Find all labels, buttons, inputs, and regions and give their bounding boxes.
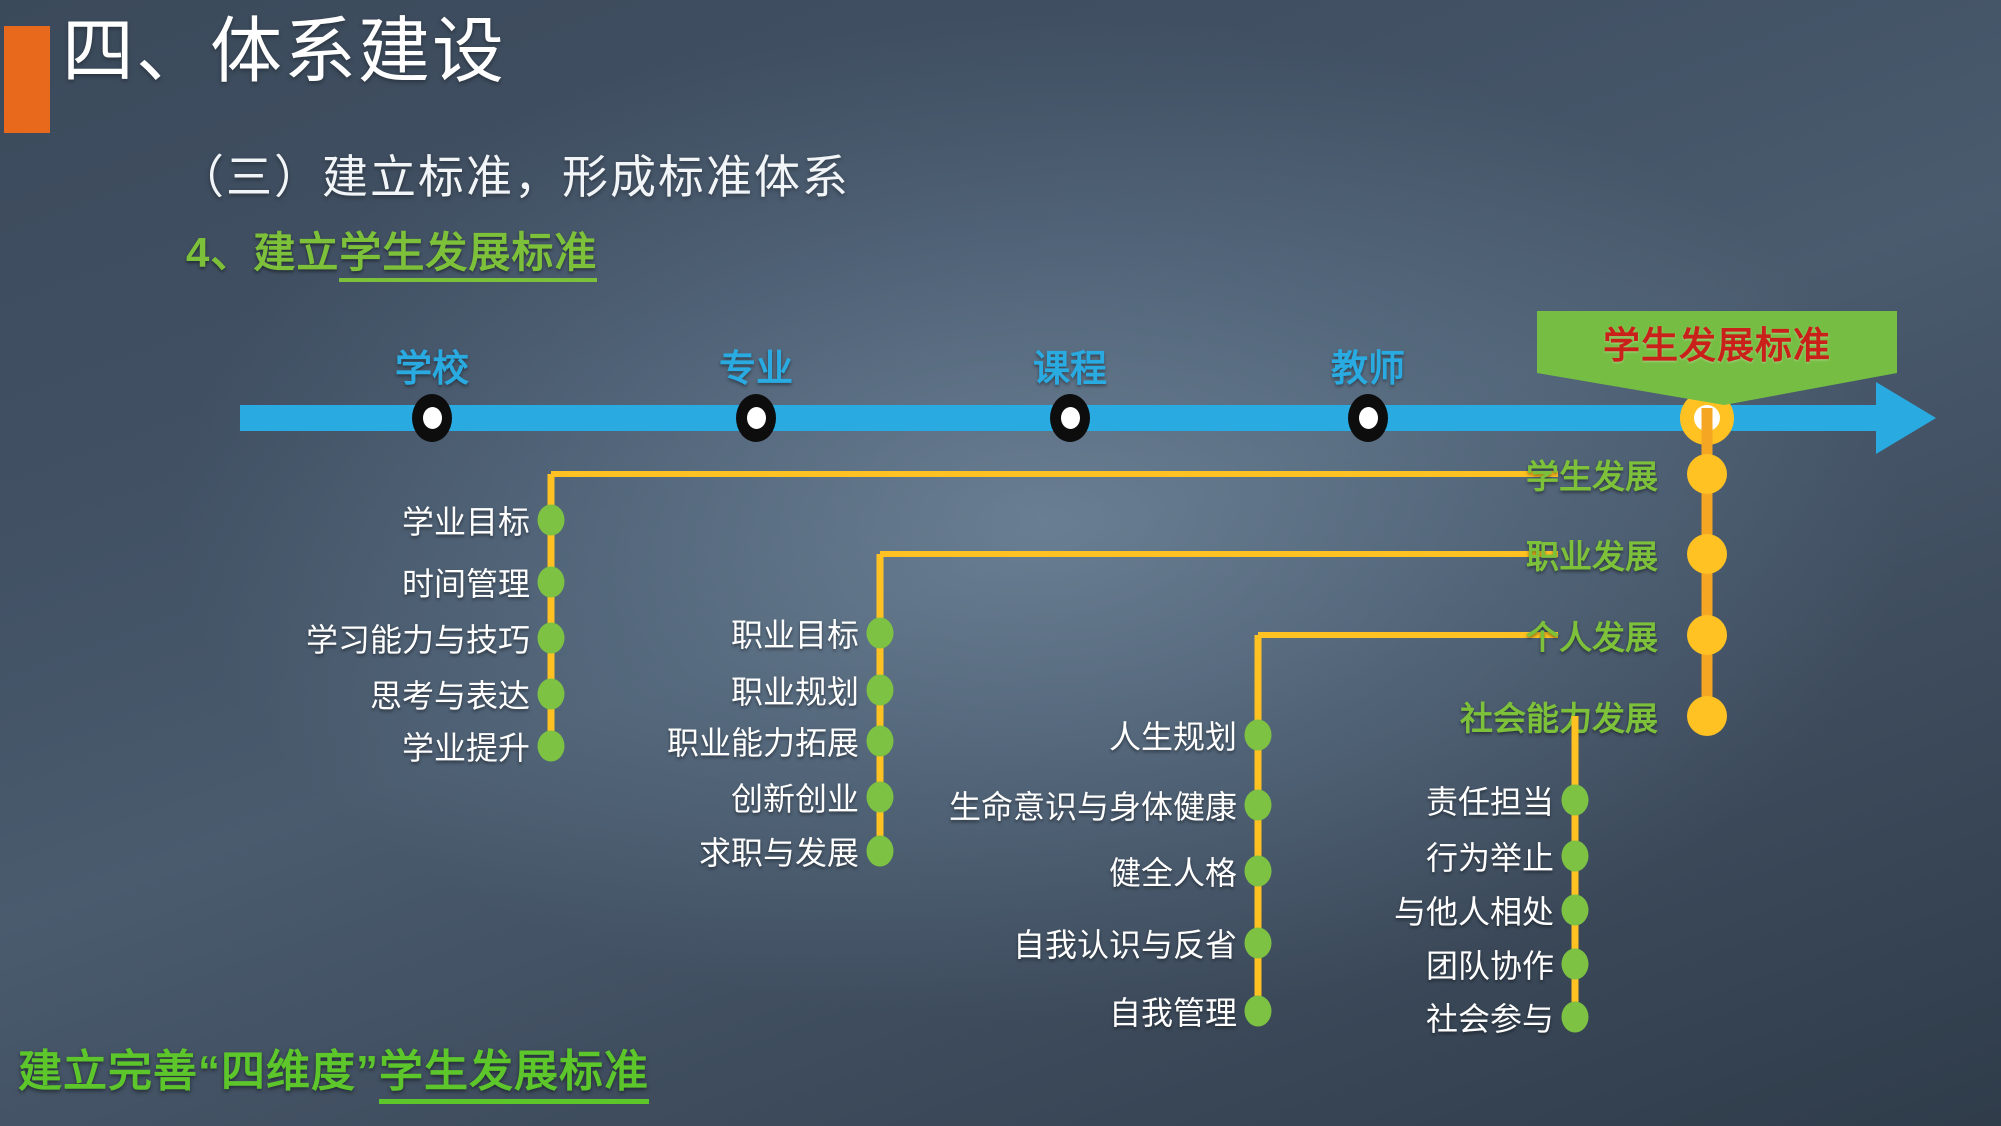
leaf-label-3-2: 生命意识与身体健康 bbox=[949, 782, 1237, 828]
timeline-node-center bbox=[1061, 407, 1080, 429]
leaf-label-4-1: 责任担当 bbox=[1426, 777, 1554, 823]
leaf-dot-2-3[interactable] bbox=[867, 726, 894, 757]
timeline-node-4[interactable] bbox=[1348, 394, 1388, 442]
slide-canvas: 四、体系建设 （三）建立标准，形成标准体系 4、建立学生发展标准 学校专业课程教… bbox=[0, 0, 2001, 1126]
leaf-dot-4-5[interactable] bbox=[1562, 1002, 1589, 1033]
leaf-dot-4-4[interactable] bbox=[1562, 949, 1589, 980]
leaf-label-1-5: 学业提升 bbox=[402, 723, 530, 769]
leaf-dot-1-5[interactable] bbox=[538, 731, 565, 762]
trunk-dot-4[interactable] bbox=[1687, 696, 1727, 736]
timeline-label-4: 教师 bbox=[1331, 338, 1405, 392]
leaf-label-2-4: 创新创业 bbox=[731, 774, 859, 820]
leaf-label-4-3: 与他人相处 bbox=[1394, 887, 1554, 933]
timeline-node-center bbox=[1359, 407, 1378, 429]
trunk-dot-1[interactable] bbox=[1687, 454, 1727, 494]
branch-connector-1 bbox=[551, 471, 1558, 477]
leaf-label-2-3: 职业能力拓展 bbox=[667, 718, 859, 764]
leaf-dot-1-2[interactable] bbox=[538, 567, 565, 598]
leaf-dot-2-5[interactable] bbox=[867, 836, 894, 867]
leaf-label-1-2: 时间管理 bbox=[402, 559, 530, 605]
leaf-dot-2-2[interactable] bbox=[867, 675, 894, 706]
leaf-label-1-1: 学业目标 bbox=[402, 497, 530, 543]
leaf-dot-1-4[interactable] bbox=[538, 679, 565, 710]
footer-caption-underlined: 学生发展标准 bbox=[379, 1047, 649, 1104]
banner-label: 学生发展标准 bbox=[1603, 315, 1831, 369]
section-heading-number: 4、建立 bbox=[186, 229, 339, 276]
leaf-label-3-1: 人生规划 bbox=[1109, 712, 1237, 758]
trunk-dot-2[interactable] bbox=[1687, 534, 1727, 574]
footer-caption: 建立完善“四维度”学生发展标准 bbox=[18, 1050, 649, 1094]
branch-label-2: 职业发展 bbox=[1526, 530, 1658, 578]
branch-label-4: 社会能力发展 bbox=[1460, 692, 1658, 740]
accent-bar bbox=[4, 26, 50, 133]
section-heading-underlined: 学生发展标准 bbox=[339, 229, 597, 282]
leaf-dot-4-3[interactable] bbox=[1562, 895, 1589, 926]
footer-caption-prefix: 建立完善“四维度” bbox=[18, 1047, 379, 1096]
timeline-node-3[interactable] bbox=[1050, 394, 1090, 442]
leaf-dot-4-1[interactable] bbox=[1562, 785, 1589, 816]
leaf-label-4-2: 行为举止 bbox=[1426, 833, 1554, 879]
trunk-dot-3[interactable] bbox=[1687, 615, 1727, 655]
leaf-label-3-4: 自我认识与反省 bbox=[1013, 920, 1237, 966]
timeline-label-3: 课程 bbox=[1033, 338, 1107, 392]
branch-connector-2 bbox=[880, 551, 1558, 557]
leaf-label-3-3: 健全人格 bbox=[1109, 848, 1237, 894]
leaf-dot-2-1[interactable] bbox=[867, 618, 894, 649]
branch-connector-3 bbox=[1258, 632, 1558, 638]
leaf-dot-1-1[interactable] bbox=[538, 505, 565, 536]
leaf-label-2-1: 职业目标 bbox=[731, 610, 859, 656]
leaf-dot-3-3[interactable] bbox=[1245, 856, 1272, 887]
leaf-dot-3-1[interactable] bbox=[1245, 720, 1272, 751]
leaf-label-4-5: 社会参与 bbox=[1426, 994, 1554, 1040]
leaf-label-3-5: 自我管理 bbox=[1109, 988, 1237, 1034]
timeline-node-center bbox=[423, 407, 442, 429]
leaf-label-1-3: 学习能力与技巧 bbox=[306, 615, 530, 661]
leaf-dot-1-3[interactable] bbox=[538, 623, 565, 654]
page-title: 四、体系建设 bbox=[62, 16, 506, 88]
timeline-node-center bbox=[747, 407, 766, 429]
leaf-dot-3-2[interactable] bbox=[1245, 790, 1272, 821]
timeline-node-2[interactable] bbox=[736, 394, 776, 442]
leaf-dot-3-5[interactable] bbox=[1245, 996, 1272, 1027]
section-heading: 4、建立学生发展标准 bbox=[186, 232, 597, 274]
branch-label-1: 学生发展 bbox=[1526, 450, 1658, 498]
branch-label-3: 个人发展 bbox=[1526, 611, 1658, 659]
leaf-dot-2-4[interactable] bbox=[867, 782, 894, 813]
leaf-label-4-4: 团队协作 bbox=[1426, 941, 1554, 987]
leaf-label-2-2: 职业规划 bbox=[731, 667, 859, 713]
timeline-label-1: 学校 bbox=[395, 338, 469, 392]
page-subtitle: （三）建立标准，形成标准体系 bbox=[178, 154, 850, 200]
banner-tail-shape bbox=[1537, 373, 1897, 405]
leaf-dot-4-2[interactable] bbox=[1562, 841, 1589, 872]
student-standard-banner[interactable]: 学生发展标准 bbox=[1537, 311, 1897, 373]
timeline-node-1[interactable] bbox=[412, 394, 452, 442]
leaf-label-2-5: 求职与发展 bbox=[699, 828, 859, 874]
timeline-arrow-icon bbox=[1876, 382, 1936, 454]
leaf-dot-3-4[interactable] bbox=[1245, 928, 1272, 959]
leaf-label-1-4: 思考与表达 bbox=[370, 671, 530, 717]
timeline-label-2: 专业 bbox=[719, 338, 793, 392]
